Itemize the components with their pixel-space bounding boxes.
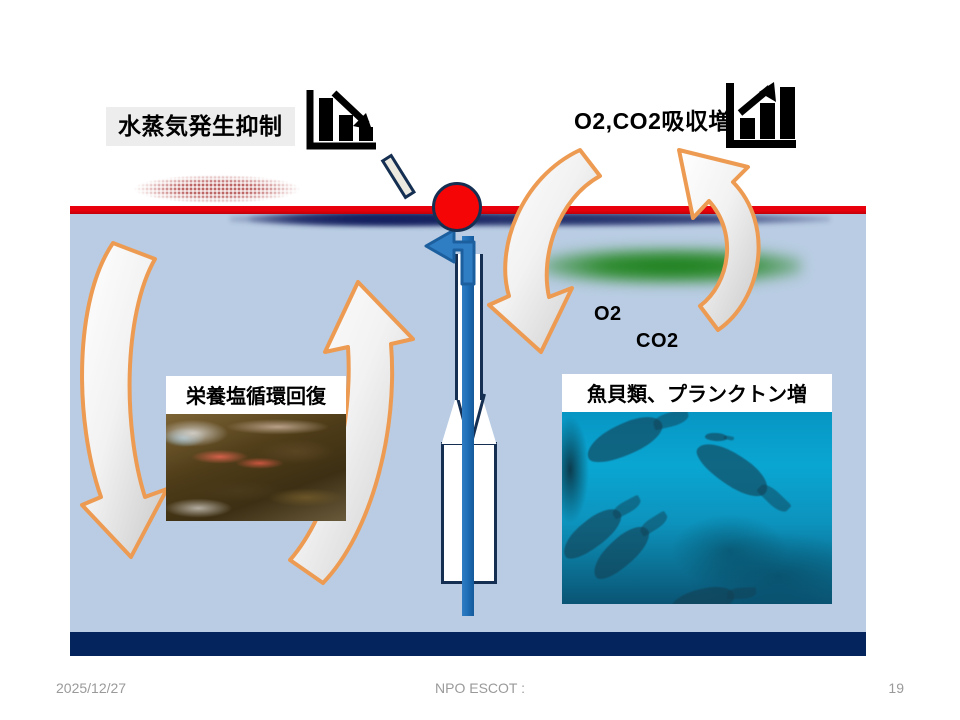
label-co2: CO2 <box>636 330 679 353</box>
footer-organization: NPO ESCOT : <box>0 680 960 696</box>
algae-bloom-blob <box>540 248 802 284</box>
fish-photo <box>562 412 832 604</box>
water-vapor-cloud <box>122 172 312 206</box>
label-o2: O2 <box>594 303 622 326</box>
red-buoy <box>432 182 482 232</box>
bar-chart-up-icon <box>726 80 798 155</box>
seaweed-photo <box>166 414 346 521</box>
seabed-bar <box>70 632 866 656</box>
slide-footer: 2025/12/27 NPO ESCOT : 19 <box>0 672 960 720</box>
slide-canvas: 水蒸気発生抑制 O2,CO2吸収増 O2 CO2 栄養塩循環回復 <box>0 0 960 720</box>
photo-caption-nutrient: 栄養塩循環回復 <box>166 376 346 414</box>
bar-chart-down-icon <box>306 88 378 155</box>
callout-vapor-suppression: 水蒸気発生抑制 <box>106 107 295 146</box>
callout-gas-absorption: O2,CO2吸収増 <box>562 102 744 141</box>
photo-caption-fish: 魚貝類、プランクトン増 <box>562 374 832 412</box>
footer-page-number: 19 <box>888 680 904 696</box>
photo-card-fish: 魚貝類、プランクトン増 <box>562 374 832 604</box>
photo-card-nutrient: 栄養塩循環回復 <box>166 376 346 521</box>
upwelling-pipe <box>462 236 474 616</box>
buoy-mast <box>381 154 416 200</box>
